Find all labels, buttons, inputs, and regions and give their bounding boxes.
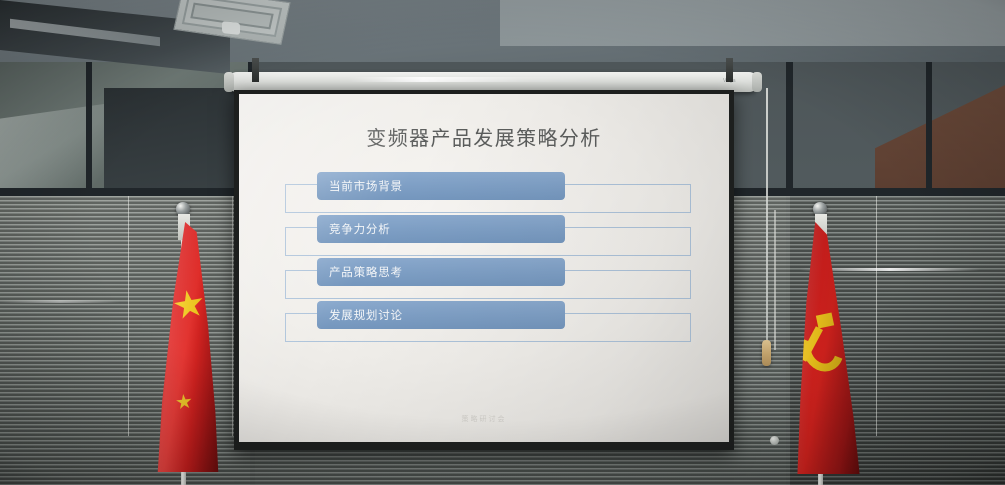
blind-cord[interactable] <box>128 196 129 436</box>
slide-agenda-list: 当前市场背景 竞争力分析 产品策略思考 <box>239 172 729 344</box>
meeting-room-scene: Vega 变频器产品发展策略分析 当前市场背景 竞争力分析 <box>0 0 1005 485</box>
screen-tension-knob <box>770 436 779 445</box>
slide-title: 变频器产品发展策略分析 <box>239 122 729 151</box>
agenda-item[interactable]: 产品策略思考 <box>239 258 729 301</box>
projector-screen-frame: 变频器产品发展策略分析 当前市场背景 竞争力分析 <box>234 90 734 450</box>
projector-screen-roller: Vega <box>228 72 758 92</box>
agenda-bar[interactable]: 竞争力分析 <box>317 215 565 243</box>
presentation-slide: 变频器产品发展策略分析 当前市场背景 竞争力分析 <box>239 94 729 442</box>
agenda-bar[interactable]: 产品策略思考 <box>317 258 565 286</box>
agenda-item[interactable]: 发展规划讨论 <box>239 301 729 344</box>
roller-end-cap-left <box>224 72 234 92</box>
blind-cord[interactable] <box>876 196 877 436</box>
roller-end-cap-right <box>752 72 762 92</box>
blind-cord[interactable] <box>232 196 233 436</box>
ceiling-right-section <box>500 0 1005 46</box>
screen-pull-cord-secondary[interactable] <box>774 210 776 350</box>
blind-light-glint <box>0 300 120 303</box>
screen-pull-cord[interactable] <box>766 88 768 346</box>
pull-cord-toggle[interactable] <box>762 340 771 366</box>
mullion-vertical <box>86 48 92 198</box>
agenda-item-label: 当前市场背景 <box>329 178 403 194</box>
roller-highlight <box>348 77 598 82</box>
agenda-item-label: 发展规划讨论 <box>329 307 403 323</box>
agenda-bar[interactable]: 发展规划讨论 <box>317 301 565 329</box>
agenda-item-label: 竞争力分析 <box>329 221 391 237</box>
slide-footer-text: 策略研讨会 <box>239 414 729 424</box>
ceiling-sensor <box>222 21 240 35</box>
screen-mount-bracket <box>252 58 259 82</box>
agenda-item-label: 产品策略思考 <box>329 264 403 280</box>
agenda-bar[interactable]: 当前市场背景 <box>317 172 565 200</box>
screen-mount-bracket <box>726 58 733 82</box>
agenda-item[interactable]: 当前市场背景 <box>239 172 729 215</box>
agenda-item[interactable]: 竞争力分析 <box>239 215 729 258</box>
